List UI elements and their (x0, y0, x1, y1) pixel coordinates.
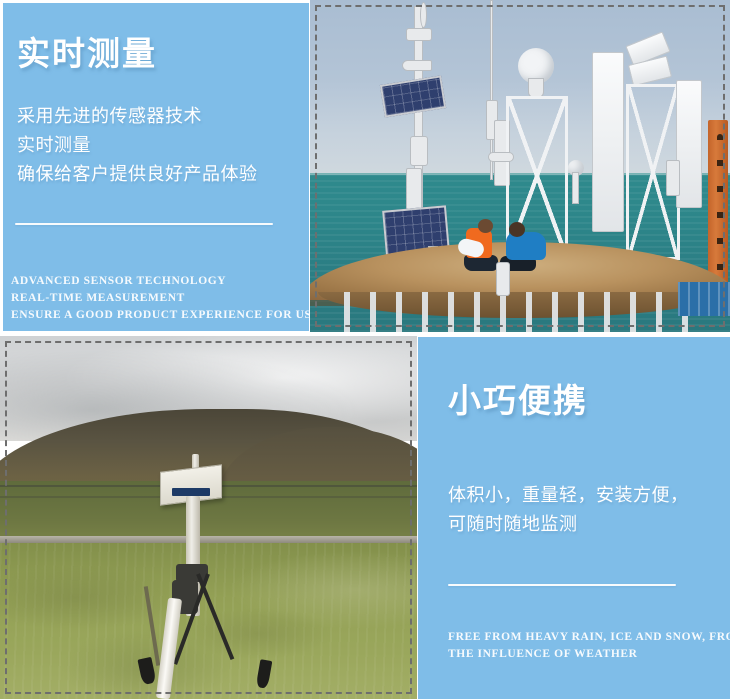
portable-body-line-1: 体积小，重量轻，安装方便， (448, 481, 689, 510)
radiation-shield (410, 136, 428, 166)
deck-instrument-stand (496, 262, 510, 296)
platform-support-legs (344, 292, 697, 332)
realtime-title: 实时测量 (17, 36, 157, 72)
grassland-station-photo (0, 336, 417, 699)
near-grass-field (0, 543, 417, 699)
grassland-scene (0, 336, 417, 699)
blue-scaffold (678, 282, 730, 316)
offshore-scene (310, 0, 730, 332)
junction-box-right (666, 160, 680, 196)
offshore-platform-photo (310, 0, 730, 332)
dirt-road (0, 536, 417, 543)
worker-in-blue-shirt (506, 232, 552, 276)
realtime-english-line-2: REAL-TIME MEASUREMENT (11, 290, 185, 308)
cross-arm (488, 152, 514, 162)
realtime-body-line-2: 实时测量 (17, 131, 91, 160)
portable-english-line-2: THE INFLUENCE OF WEATHER (448, 646, 638, 664)
small-sensor-stem (572, 172, 579, 204)
realtime-body-line-1: 采用先进的传感器技术 (17, 102, 202, 131)
realtime-body-line-3: 确保给客户提供良好产品体验 (17, 160, 258, 189)
portable-body-line-2: 可随时随地监测 (448, 510, 578, 539)
realtime-divider (15, 223, 273, 225)
worker-b-head (509, 222, 525, 237)
mast-top-sensor (420, 2, 427, 28)
sensor-box-left (406, 168, 422, 210)
realtime-english-line-3: ENSURE A GOOD PRODUCT EXPERIENCE FOR USE… (11, 307, 336, 325)
camera-housing (406, 28, 432, 41)
worker-b-shirt (506, 232, 546, 260)
panel-antenna-1 (592, 52, 624, 232)
portable-divider (448, 584, 676, 586)
instrument-display (172, 488, 210, 496)
worker-a-head (478, 219, 493, 233)
portable-title: 小巧便携 (448, 383, 588, 419)
realtime-text-panel: 实时测量 采用先进的传感器技术 实时测量 确保给客户提供良好产品体验 ADVAN… (3, 3, 309, 331)
product-feature-banner: 实时测量 采用先进的传感器技术 实时测量 确保给客户提供良好产品体验 ADVAN… (0, 0, 730, 699)
radome-neck (528, 78, 544, 98)
portable-text-panel: 小巧便携 体积小，重量轻，安装方便， 可随时随地监测 FREE FROM HEA… (418, 337, 730, 699)
portable-english-line-1: FREE FROM HEAVY RAIN, ICE AND SNOW, FROS… (448, 629, 730, 647)
wind-vane (402, 60, 432, 71)
realtime-english-line-1: ADVANCED SENSOR TECHNOLOGY (11, 273, 226, 291)
